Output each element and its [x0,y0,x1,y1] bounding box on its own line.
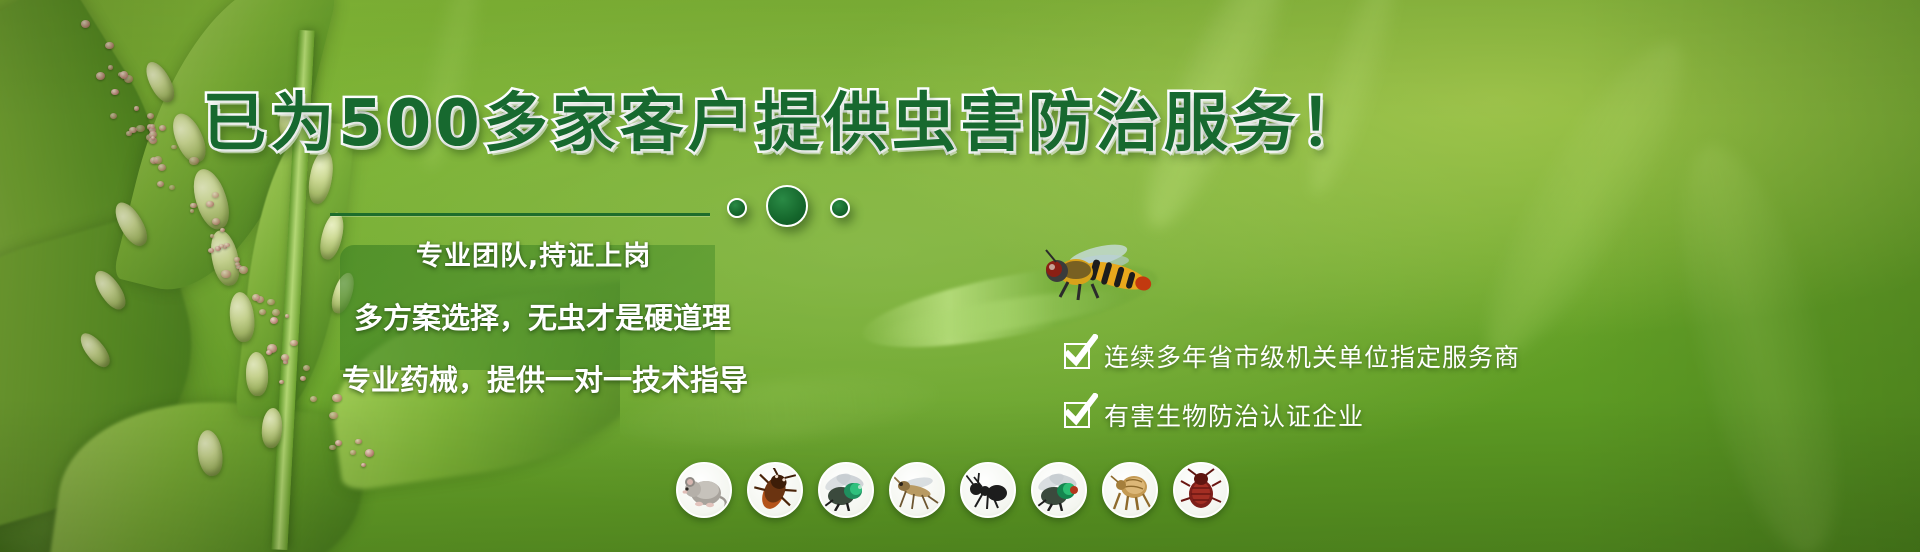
pest-icon-ant[interactable] [960,462,1016,518]
checkbox-checked-icon [1064,343,1090,369]
hoverfly-illustration [1040,240,1170,310]
pest-icon-bedbug[interactable] [1173,462,1229,518]
feature-line-1: 专业团队,持证上岗 [330,234,1150,273]
checkbox-checked-icon [1064,402,1090,428]
page-title-text: 已为500多家客户提供虫害防治服务！ [202,87,1368,161]
checklist-item-label: 有害生物防治认证企业 [1104,397,1364,433]
pest-icon-cockroach[interactable] [747,462,803,518]
checklist-item-label: 连续多年省市级机关单位指定服务商 [1104,338,1520,374]
pest-icon-fly[interactable] [818,462,874,518]
pest-icon-flea[interactable] [1102,462,1158,518]
checklist: 连续多年省市级机关单位指定服务商 有害生物防治认证企业 [1064,338,1520,456]
pest-icon-mosquito[interactable] [889,462,945,518]
feature-line-3: 专业药械，提供一对一技术指导 [330,357,1150,399]
promo-banner: 已为500多家客户提供虫害防治服务！ 专业团队,持证上岗 多方案选择，无虫才是硬… [0,0,1920,552]
pest-icon-greenbottle-fly[interactable] [1031,462,1087,518]
checklist-item: 有害生物防治认证企业 [1064,397,1520,433]
pest-icon-mouse[interactable] [676,462,732,518]
page-title: 已为500多家客户提供虫害防治服务！ [0,72,1570,164]
pest-icon-row [676,462,1229,518]
checklist-item: 连续多年省市级机关单位指定服务商 [1064,338,1520,374]
